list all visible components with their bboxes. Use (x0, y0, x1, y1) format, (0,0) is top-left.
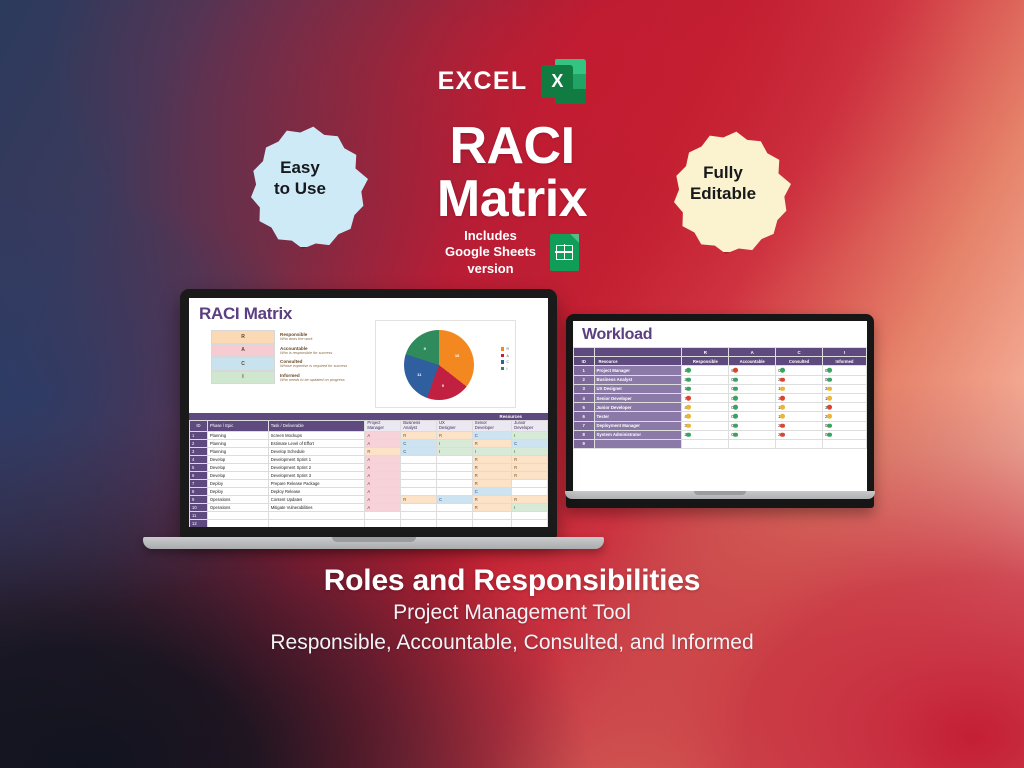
raci-cell-jd[interactable]: I (512, 431, 548, 439)
pie-slice-label: 9 (442, 383, 444, 388)
raci-cell-ux[interactable] (437, 463, 473, 471)
status-dot (686, 387, 691, 392)
workload-col-metric: Responsible (682, 357, 729, 366)
table-row[interactable]: 6Tester4012 (574, 412, 867, 421)
raci-cell-task[interactable]: Estimate Level of Effort (268, 439, 365, 447)
raci-cell-ux[interactable]: I (437, 439, 473, 447)
status-dot (686, 368, 691, 373)
raci-cell-id: 7 (190, 479, 208, 487)
workload-cell-a[interactable]: 0 (729, 412, 776, 421)
status-dot (827, 396, 832, 401)
status-dot (686, 405, 691, 410)
workload-cell-i[interactable]: 2 (823, 384, 867, 393)
raci-cell-sd[interactable]: R (472, 463, 511, 471)
raci-cell-pm[interactable]: A (365, 479, 401, 487)
raci-cell-phase[interactable]: Planning (207, 431, 268, 439)
workload-cell-r[interactable] (682, 439, 729, 448)
status-dot (733, 396, 738, 401)
laptop-raci-matrix: RACI Matrix RResponsibleWho does the wor… (180, 289, 557, 538)
raci-cell-sd[interactable]: R (472, 495, 511, 503)
google-sheets-note: Includes Google Sheets version (0, 228, 1024, 277)
raci-cell-jd[interactable]: I (512, 503, 548, 511)
raci-cell-jd[interactable]: I (512, 447, 548, 455)
footer-sub-2: Responsible, Accountable, Consulted, and… (0, 628, 1024, 658)
workload-cell-resource[interactable]: Deployment Manager (594, 421, 682, 430)
footer-headline: Roles and Responsibilities (0, 564, 1024, 598)
raci-cell-ba[interactable]: C (401, 439, 437, 447)
badge-editable-line-1: Fully (690, 163, 756, 184)
raci-pie-chart: 169119 RACI (375, 320, 516, 408)
raci-col-phase: Phase / Epic (207, 421, 268, 432)
raci-cell-ux[interactable]: C (437, 495, 473, 503)
table-row[interactable]: 9 (574, 439, 867, 448)
raci-cell-pm[interactable]: R (365, 447, 401, 455)
raci-cell-pm[interactable]: A (365, 463, 401, 471)
pie-legend-label: C (507, 360, 509, 364)
status-dot (827, 377, 832, 382)
raci-cell-ba[interactable] (401, 471, 437, 479)
workload-cell-id: 9 (574, 439, 595, 448)
raci-table[interactable]: IDPhase / EpicTask / DeliverableProjectM… (189, 420, 548, 527)
raci-cell-sd[interactable]: C (472, 431, 511, 439)
workload-cell-id: 1 (574, 366, 595, 375)
workload-header-row: IDResourceResponsibleAccountableConsulte… (574, 357, 867, 366)
pie-legend-swatch (501, 367, 505, 371)
status-dot (780, 377, 785, 382)
status-dot (733, 405, 738, 410)
status-dot (686, 396, 691, 401)
workload-cell-c[interactable]: 0 (776, 366, 823, 375)
raci-cell-phase[interactable]: Develop (207, 463, 268, 471)
laptop-right-base (565, 491, 875, 499)
workload-cell-resource[interactable]: Senior Developer (594, 393, 682, 402)
raci-cell-task[interactable]: Deploy Release (268, 487, 365, 495)
table-row[interactable]: 3PlanningDevelop ScheduleRCIII (190, 447, 548, 455)
workload-cell-a[interactable]: 9 (729, 366, 776, 375)
table-row[interactable]: 10OperationsMitigate VulnerabilitiesARI (190, 503, 548, 511)
title-line-2: Matrix (0, 173, 1024, 226)
raci-cell-id: 8 (190, 487, 208, 495)
raci-cell-id: 6 (190, 471, 208, 479)
workload-cell-a[interactable]: 0 (729, 375, 776, 384)
page-title: RACI Matrix (0, 120, 1024, 226)
raci-cell-sd[interactable]: R (472, 471, 511, 479)
raci-cell-sd[interactable]: R (472, 439, 511, 447)
title-line-1: RACI (0, 120, 1024, 173)
raci-cell-pm[interactable]: A (365, 439, 401, 447)
pie-legend-item: C (501, 360, 509, 364)
table-row[interactable]: 7Deployment Manager3020 (574, 421, 867, 430)
raci-cell-task[interactable] (268, 519, 365, 527)
workload-col-resource: Resource (594, 357, 682, 366)
laptop-left-screen: RACI Matrix RResponsibleWho does the wor… (189, 298, 548, 527)
raci-cell-sd[interactable]: I (472, 447, 511, 455)
raci-cell-id: 3 (190, 447, 208, 455)
workload-cell-a[interactable]: 0 (729, 421, 776, 430)
pie-legend-item: I (501, 367, 509, 371)
laptop-left-lid: RACI Matrix RResponsibleWho does the wor… (180, 289, 557, 538)
raci-cell-task[interactable] (268, 511, 365, 519)
raci-cell-sd[interactable]: R (472, 455, 511, 463)
raci-legend-key: R (211, 330, 275, 344)
status-dot (780, 396, 785, 401)
raci-col-id: ID (190, 421, 208, 432)
workload-cell-r[interactable]: 4 (682, 412, 729, 421)
raci-cell-phase[interactable] (207, 511, 268, 519)
workload-cell-id: 3 (574, 384, 595, 393)
raci-cell-phase[interactable]: Planning (207, 439, 268, 447)
raci-cell-ux[interactable] (437, 479, 473, 487)
workload-cell-r[interactable]: 1 (682, 366, 729, 375)
status-dot (827, 423, 832, 428)
pie-slice-label: 9 (424, 346, 426, 351)
raci-cell-jd[interactable]: R (512, 495, 548, 503)
raci-cell-task[interactable]: Develop Schedule (268, 447, 365, 455)
table-row[interactable]: 1PlanningScreen MockupsARRCI (190, 431, 548, 439)
laptop-right-screen: Workload RACIIDResourceResponsibleAccoun… (573, 321, 867, 491)
pie-legend-swatch (501, 360, 505, 364)
workload-cell-id: 7 (574, 421, 595, 430)
workload-col-metric: Informed (823, 357, 867, 366)
status-dot (827, 387, 832, 392)
workload-cell-a[interactable] (729, 439, 776, 448)
workload-cell-resource[interactable]: UX Designer (594, 384, 682, 393)
raci-cell-jd[interactable]: C (512, 439, 548, 447)
workload-cell-c[interactable]: 2 (776, 393, 823, 402)
status-dot (780, 423, 785, 428)
raci-cell-ba[interactable] (401, 487, 437, 495)
workload-spreadsheet[interactable]: Workload RACIIDResourceResponsibleAccoun… (573, 321, 867, 491)
pie-slice-label: 11 (417, 372, 421, 377)
workload-col-metric: Consulted (776, 357, 823, 366)
raci-cell-sd[interactable]: C (472, 487, 511, 495)
laptop-right-notch (694, 491, 746, 495)
status-dot (827, 368, 832, 373)
workload-group-header: I (823, 348, 867, 357)
table-row[interactable]: 12 (190, 519, 548, 527)
status-dot (733, 432, 738, 437)
raci-cell-jd[interactable] (512, 479, 548, 487)
status-dot (733, 377, 738, 382)
table-row[interactable]: 5DevelopDevelopment Sprint 2ARR (190, 463, 548, 471)
raci-cell-task[interactable]: Screen Mockups (268, 431, 365, 439)
raci-legend-key: C (211, 357, 275, 371)
raci-cell-ux[interactable] (437, 471, 473, 479)
raci-cell-ba[interactable] (401, 479, 437, 487)
workload-col-id: ID (574, 357, 595, 366)
workload-cell-resource[interactable]: Project Manager (594, 366, 682, 375)
workload-cell-c[interactable]: 2 (776, 421, 823, 430)
raci-cell-pm[interactable]: A (365, 471, 401, 479)
pie-legend-swatch (501, 354, 505, 358)
status-dot (827, 432, 832, 437)
table-row[interactable]: 7DeployPrepare Release PackageAR (190, 479, 548, 487)
excel-header: EXCEL X (0, 59, 1024, 104)
table-row[interactable]: 4DevelopDevelopment Sprint 1ARR (190, 455, 548, 463)
workload-table[interactable]: RACIIDResourceResponsibleAccountableCons… (573, 347, 867, 449)
raci-col-role: UXDesigner (437, 421, 473, 432)
workload-cell-i[interactable] (823, 439, 867, 448)
workload-cell-i[interactable]: 1 (823, 393, 867, 402)
table-row[interactable]: 8DeployDeploy ReleaseAC (190, 487, 548, 495)
workload-cell-resource[interactable]: Junior Developer (594, 403, 682, 412)
pie-legend-item: A (501, 354, 509, 358)
workload-cell-c[interactable]: 2 (776, 375, 823, 384)
workload-cell-id: 5 (574, 403, 595, 412)
workload-cell-id: 2 (574, 375, 595, 384)
pie-legend-swatch (501, 347, 505, 351)
raci-col-task: Task / Deliverable (268, 421, 365, 432)
raci-cell-ba[interactable] (401, 511, 437, 519)
raci-cell-id: 5 (190, 463, 208, 471)
workload-cell-r[interactable]: 2 (682, 375, 729, 384)
workload-cell-r[interactable]: 7 (682, 393, 729, 402)
raci-legend-key: A (211, 344, 275, 358)
workload-cell-c[interactable]: 1 (776, 384, 823, 393)
pie-slice-label: 16 (455, 353, 459, 358)
workload-cell-i[interactable]: 0 (823, 421, 867, 430)
table-row[interactable]: 8System Administrator2020 (574, 430, 867, 439)
google-sheets-icon (550, 234, 579, 271)
raci-cell-jd[interactable] (512, 511, 548, 519)
raci-cell-id: 2 (190, 439, 208, 447)
raci-cell-pm[interactable]: A (365, 455, 401, 463)
raci-cell-task[interactable]: Content Updates (268, 495, 365, 503)
workload-grp-blank (574, 348, 595, 357)
raci-cell-sd[interactable] (472, 519, 511, 527)
raci-cell-ba[interactable] (401, 455, 437, 463)
status-dot (733, 387, 738, 392)
raci-title: RACI Matrix (199, 304, 292, 323)
raci-col-role: BusinessAnalyst (401, 421, 437, 432)
workload-group-header: R (682, 348, 729, 357)
pie-legend-label: A (507, 354, 509, 358)
workload-group-header: A (729, 348, 776, 357)
raci-cell-ba[interactable] (401, 463, 437, 471)
badge-easy-line-1: Easy (274, 158, 326, 179)
laptop-right-lid: Workload RACIIDResourceResponsibleAccoun… (566, 314, 874, 508)
status-dot (780, 405, 785, 410)
raci-cell-ba[interactable] (401, 503, 437, 511)
raci-cell-phase[interactable]: Deploy (207, 479, 268, 487)
raci-cell-ux[interactable] (437, 487, 473, 495)
raci-cell-pm[interactable]: A (365, 431, 401, 439)
status-dot (733, 414, 738, 419)
raci-cell-id: 12 (190, 519, 208, 527)
raci-cell-phase[interactable]: Deploy (207, 487, 268, 495)
workload-cell-id: 4 (574, 393, 595, 402)
workload-cell-resource[interactable]: Business Analyst (594, 375, 682, 384)
raci-cell-task[interactable]: Development Sprint 3 (268, 471, 365, 479)
workload-cell-resource[interactable] (594, 439, 682, 448)
table-row[interactable]: 9OperationsContent UpdatesARCRR (190, 495, 548, 503)
raci-cell-pm[interactable]: A (365, 495, 401, 503)
raci-col-role: JuniorDeveloper (512, 421, 548, 432)
excel-logo-letter: X (541, 65, 573, 98)
sheets-note-line-2: Google Sheets (445, 244, 536, 260)
status-dot (686, 423, 691, 428)
pie-circle: 169119 (404, 330, 474, 400)
workload-cell-a[interactable]: 0 (729, 384, 776, 393)
workload-cell-id: 8 (574, 430, 595, 439)
raci-cell-ux[interactable]: R (437, 431, 473, 439)
table-row[interactable]: 11 (190, 511, 548, 519)
status-dot (733, 368, 738, 373)
raci-cell-jd[interactable] (512, 519, 548, 527)
workload-group-header: C (776, 348, 823, 357)
raci-cell-id: 10 (190, 503, 208, 511)
workload-cell-id: 6 (574, 412, 595, 421)
pie-legend-label: I (507, 367, 508, 371)
workload-cell-resource[interactable]: System Administrator (594, 430, 682, 439)
raci-cell-id: 9 (190, 495, 208, 503)
sheets-note-line-1: Includes (445, 228, 536, 244)
status-dot (827, 405, 832, 410)
raci-cell-ux[interactable] (437, 511, 473, 519)
raci-cell-phase[interactable]: Operations (207, 503, 268, 511)
laptop-left-notch (332, 537, 416, 542)
raci-cell-task[interactable]: Development Sprint 1 (268, 455, 365, 463)
raci-cell-phase[interactable]: Planning (207, 447, 268, 455)
sheets-note-line-3: version (445, 261, 536, 277)
raci-cell-id: 11 (190, 511, 208, 519)
status-dot (686, 377, 691, 382)
table-row[interactable]: 6DevelopDevelopment Sprint 3ARR (190, 471, 548, 479)
workload-cell-a[interactable]: 0 (729, 430, 776, 439)
raci-cell-sd[interactable] (472, 511, 511, 519)
raci-header-row: IDPhase / EpicTask / DeliverableProjectM… (190, 421, 548, 432)
footer: Roles and Responsibilities Project Manag… (0, 564, 1024, 658)
badge-easy-line-2: to Use (274, 179, 326, 200)
workload-cell-r[interactable]: 2 (682, 430, 729, 439)
table-row[interactable]: 1Project Manager1900 (574, 366, 867, 375)
raci-cell-jd[interactable]: R (512, 455, 548, 463)
status-dot (780, 414, 785, 419)
status-dot (827, 414, 832, 419)
table-row[interactable]: 2PlanningEstimate Level of EffortACIRC (190, 439, 548, 447)
pie-legend: RACI (501, 347, 509, 373)
raci-cell-id: 1 (190, 431, 208, 439)
raci-cell-phase[interactable]: Develop (207, 455, 268, 463)
workload-group-row: RACI (574, 348, 867, 357)
status-dot (733, 423, 738, 428)
raci-cell-pm[interactable] (365, 511, 401, 519)
raci-cell-jd[interactable]: R (512, 471, 548, 479)
resources-band: Resources (189, 413, 548, 420)
table-row[interactable]: 4Senior Developer7021 (574, 393, 867, 402)
status-dot (780, 387, 785, 392)
raci-cell-ba[interactable]: C (401, 447, 437, 455)
excel-label: EXCEL (438, 67, 528, 96)
badge-editable-line-2: Editable (690, 184, 756, 205)
laptop-workload: Workload RACIIDResourceResponsibleAccoun… (566, 314, 874, 508)
raci-cell-sd[interactable]: R (472, 503, 511, 511)
excel-logo-icon: X (541, 59, 586, 104)
raci-cell-phase[interactable] (207, 519, 268, 527)
raci-cell-task[interactable]: Prepare Release Package (268, 479, 365, 487)
workload-cell-a[interactable]: 0 (729, 403, 776, 412)
raci-cell-id: 4 (190, 455, 208, 463)
workload-cell-c[interactable]: 2 (776, 430, 823, 439)
raci-cell-jd[interactable]: R (512, 463, 548, 471)
status-dot (686, 414, 691, 419)
workload-cell-i[interactable]: 0 (823, 375, 867, 384)
workload-grp-blank2 (594, 348, 682, 357)
table-row[interactable]: 3UX Designer1012 (574, 384, 867, 393)
raci-cell-ba[interactable]: R (401, 495, 437, 503)
raci-cell-task[interactable]: Mitigate Vulnerabilities (268, 503, 365, 511)
raci-cell-ux[interactable] (437, 503, 473, 511)
raci-cell-task[interactable]: Development Sprint 2 (268, 463, 365, 471)
raci-cell-phase[interactable]: Operations (207, 495, 268, 503)
workload-cell-resource[interactable]: Tester (594, 412, 682, 421)
workload-title: Workload (582, 326, 652, 343)
raci-cell-pm[interactable]: A (365, 487, 401, 495)
laptop-left-base (143, 537, 604, 549)
raci-cell-ux[interactable] (437, 455, 473, 463)
workload-cell-c[interactable]: 1 (776, 412, 823, 421)
workload-cell-r[interactable]: 1 (682, 384, 729, 393)
footer-sub-1: Project Management Tool (0, 598, 1024, 628)
workload-cell-r[interactable]: 4 (682, 403, 729, 412)
raci-col-role: SeniorDeveloper (472, 421, 511, 432)
raci-cell-pm[interactable] (365, 519, 401, 527)
raci-cell-ba[interactable]: R (401, 431, 437, 439)
workload-cell-i[interactable]: 0 (823, 430, 867, 439)
raci-legend-key: I (211, 371, 275, 385)
workload-cell-c[interactable]: 1 (776, 403, 823, 412)
workload-col-metric: Accountable (729, 357, 776, 366)
pie-legend-label: R (507, 347, 509, 351)
table-row[interactable]: 2Business Analyst2020 (574, 375, 867, 384)
raci-cell-ux[interactable]: I (437, 447, 473, 455)
workload-cell-c[interactable] (776, 439, 823, 448)
pie-legend-item: R (501, 347, 509, 351)
status-dot (780, 432, 785, 437)
workload-cell-i[interactable]: 2 (823, 412, 867, 421)
raci-cell-ux[interactable] (437, 519, 473, 527)
workload-cell-r[interactable]: 3 (682, 421, 729, 430)
raci-spreadsheet[interactable]: RACI Matrix RResponsibleWho does the wor… (189, 298, 548, 527)
workload-cell-a[interactable]: 0 (729, 393, 776, 402)
raci-cell-pm[interactable]: A (365, 503, 401, 511)
raci-cell-phase[interactable]: Develop (207, 471, 268, 479)
status-dot (686, 432, 691, 437)
raci-cell-ba[interactable] (401, 519, 437, 527)
workload-cell-i[interactable]: 0 (823, 366, 867, 375)
status-dot (780, 368, 785, 373)
table-row[interactable]: 5Junior Developer4013 (574, 403, 867, 412)
raci-col-role: ProjectManager (365, 421, 401, 432)
raci-cell-sd[interactable]: R (472, 479, 511, 487)
raci-cell-jd[interactable] (512, 487, 548, 495)
workload-cell-i[interactable]: 3 (823, 403, 867, 412)
